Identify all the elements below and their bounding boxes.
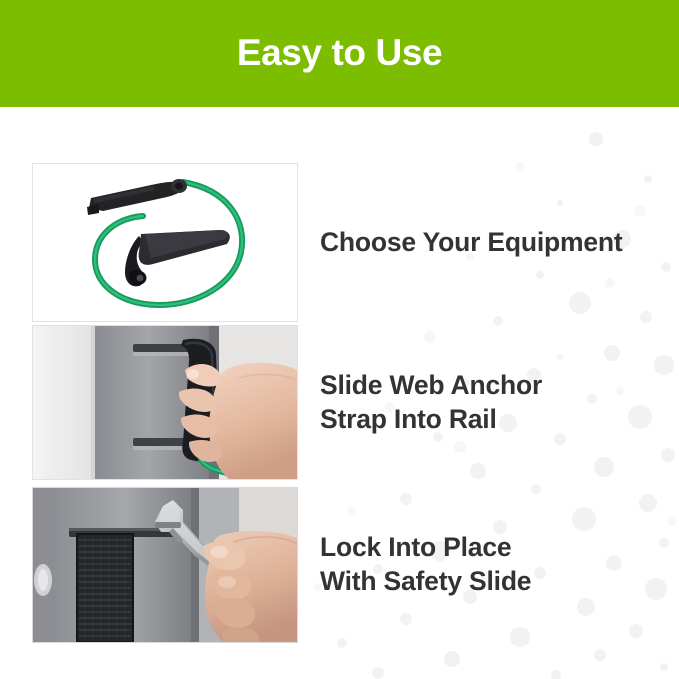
page-title: Easy to Use	[237, 34, 442, 71]
header-banner: Easy to Use	[0, 0, 679, 107]
resistance-band-handles-illustration	[33, 164, 297, 321]
slide-web-anchor-strap-illustration	[33, 326, 297, 479]
step-2-caption: Slide Web Anchor Strap Into Rail	[320, 369, 542, 436]
step-3-caption: Lock Into Place With Safety Slide	[320, 531, 531, 598]
step-item-2: Slide Web Anchor Strap Into Rail	[32, 325, 542, 480]
step-2-image	[32, 325, 298, 480]
step-3-image	[32, 487, 298, 643]
promo-graphic: Easy to Use	[0, 0, 679, 679]
step-item-3: Lock Into Place With Safety Slide	[32, 487, 531, 643]
step-1-image	[32, 163, 298, 322]
step-item-1: Choose Your Equipment	[32, 163, 623, 322]
lock-safety-slide-illustration	[33, 488, 297, 642]
step-1-caption: Choose Your Equipment	[320, 226, 623, 260]
